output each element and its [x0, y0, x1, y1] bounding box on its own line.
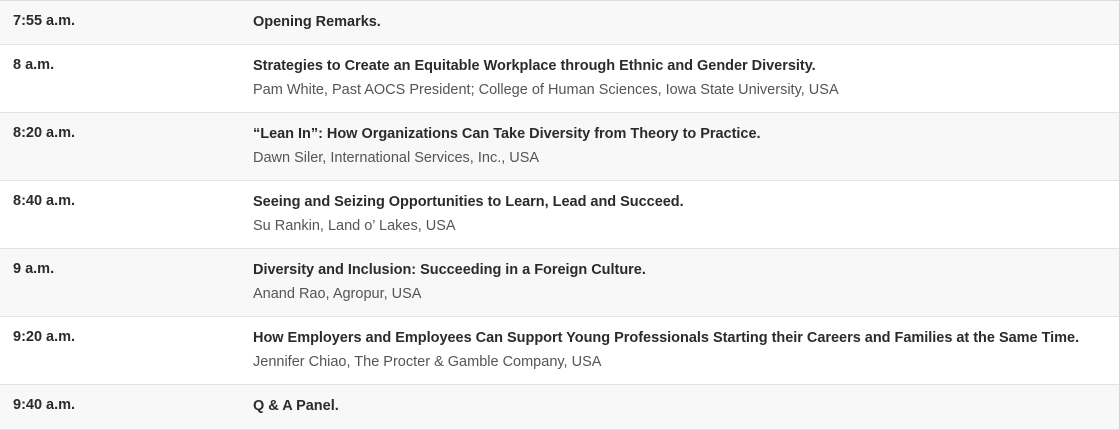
session-time: 8:40 a.m.: [0, 181, 245, 249]
session-time: 9:20 a.m.: [0, 317, 245, 385]
session-details: Opening Remarks.: [245, 1, 1119, 45]
session-details: Q & A Panel.: [245, 385, 1119, 429]
session-details: “Lean In”: How Organizations Can Take Di…: [245, 113, 1119, 181]
session-speaker: Dawn Siler, International Services, Inc.…: [253, 147, 1105, 169]
session-title: Q & A Panel.: [253, 395, 1105, 417]
session-speaker: Jennifer Chiao, The Procter & Gamble Com…: [253, 351, 1105, 373]
session-time: 9 a.m.: [0, 249, 245, 317]
session-details: Strategies to Create an Equitable Workpl…: [245, 45, 1119, 113]
session-title: Diversity and Inclusion: Succeeding in a…: [253, 259, 1105, 281]
schedule-rows-body: 7:55 a.m. Opening Remarks. 8 a.m. Strate…: [0, 1, 1119, 430]
table-row: 8:20 a.m. “Lean In”: How Organizations C…: [0, 113, 1119, 181]
session-time: 9:40 a.m.: [0, 385, 245, 429]
session-details: Seeing and Seizing Opportunities to Lear…: [245, 181, 1119, 249]
session-time: 8 a.m.: [0, 45, 245, 113]
table-row: 7:55 a.m. Opening Remarks.: [0, 1, 1119, 45]
session-title: “Lean In”: How Organizations Can Take Di…: [253, 123, 1105, 145]
session-time: 8:20 a.m.: [0, 113, 245, 181]
session-schedule-table: 7:55 a.m. Opening Remarks. 8 a.m. Strate…: [0, 0, 1119, 430]
table-row: 8 a.m. Strategies to Create an Equitable…: [0, 45, 1119, 113]
session-title: Opening Remarks.: [253, 11, 1105, 33]
session-details: Diversity and Inclusion: Succeeding in a…: [245, 249, 1119, 317]
session-speaker: Pam White, Past AOCS President; College …: [253, 79, 1105, 101]
table-row: 9 a.m. Diversity and Inclusion: Succeedi…: [0, 249, 1119, 317]
session-speaker: Su Rankin, Land o’ Lakes, USA: [253, 215, 1105, 237]
table-row: 9:40 a.m. Q & A Panel.: [0, 385, 1119, 429]
session-title: Strategies to Create an Equitable Workpl…: [253, 55, 1105, 77]
session-details: How Employers and Employees Can Support …: [245, 317, 1119, 385]
session-time: 7:55 a.m.: [0, 1, 245, 45]
session-title: Seeing and Seizing Opportunities to Lear…: [253, 191, 1105, 213]
session-speaker: Anand Rao, Agropur, USA: [253, 283, 1105, 305]
table-row: 8:40 a.m. Seeing and Seizing Opportuniti…: [0, 181, 1119, 249]
table-row: 9:20 a.m. How Employers and Employees Ca…: [0, 317, 1119, 385]
session-title: How Employers and Employees Can Support …: [253, 327, 1105, 349]
